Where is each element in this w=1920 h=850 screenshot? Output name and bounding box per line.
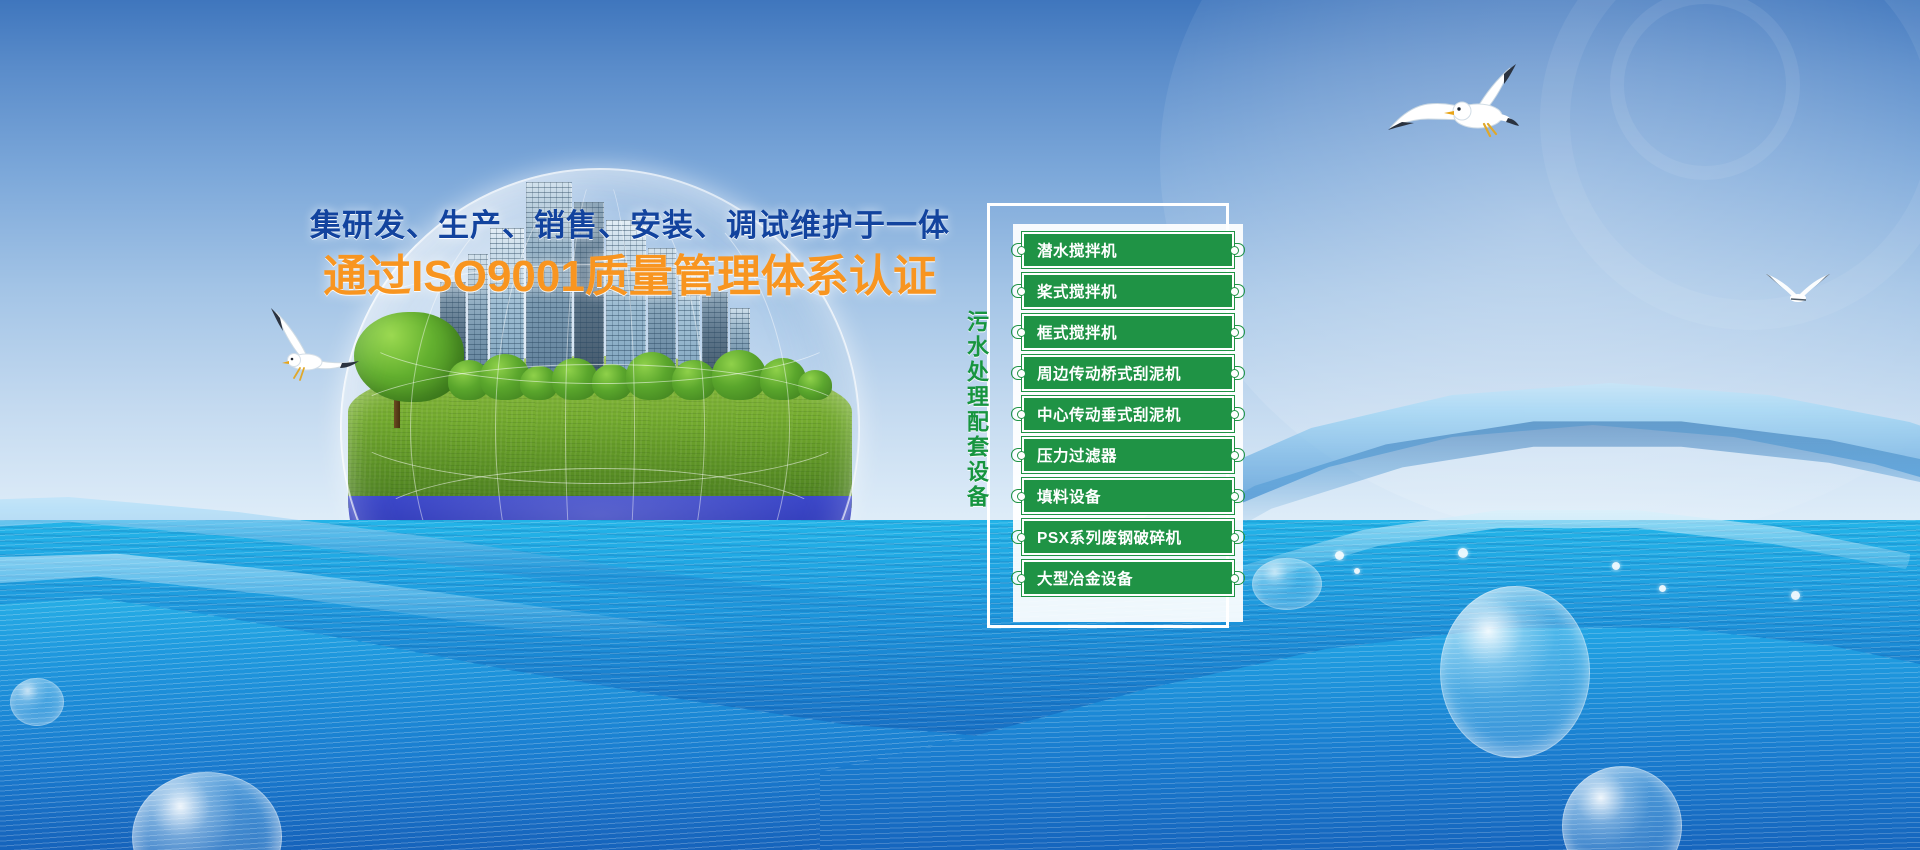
product-item-label: 周边传动桥式刮泥机 <box>1037 362 1181 384</box>
connector-knob-left-icon <box>1017 328 1026 337</box>
product-category-panel: 污水处理配套设备 潜水搅拌机 桨式搅拌机 框式搅拌机 <box>987 203 1229 628</box>
connector-knob-left-icon <box>1017 246 1026 255</box>
panel-vertical-label: 污水处理配套设备 <box>962 310 988 510</box>
product-list: 潜水搅拌机 桨式搅拌机 框式搅拌机 周边传动桥 <box>1013 224 1243 622</box>
tree <box>798 370 832 400</box>
tree <box>712 350 766 400</box>
product-item[interactable]: 桨式搅拌机 <box>1022 273 1234 309</box>
product-item[interactable]: 周边传动桥式刮泥机 <box>1022 355 1234 391</box>
headline-accent: 通过ISO9001质量管理体系认证 <box>310 251 950 304</box>
product-item-label: PSX系列废钢破碎机 <box>1037 526 1182 548</box>
product-item-label: 填料设备 <box>1037 485 1101 507</box>
connector-knob-left-icon <box>1017 287 1026 296</box>
product-item[interactable]: 潜水搅拌机 <box>1022 232 1234 268</box>
tree <box>672 360 716 400</box>
tree <box>626 352 678 400</box>
product-item[interactable]: 框式搅拌机 <box>1022 314 1234 350</box>
eco-water-treatment-banner: 集研发、生产、销售、安装、调试维护于一体 通过ISO9001质量管理体系认证 污… <box>0 0 1920 850</box>
product-item-label: 大型冶金设备 <box>1037 567 1133 589</box>
product-item-label: 潜水搅拌机 <box>1037 239 1117 261</box>
product-item[interactable]: 填料设备 <box>1022 478 1234 514</box>
connector-knob-left-icon <box>1017 451 1026 460</box>
product-item-label: 框式搅拌机 <box>1037 321 1117 343</box>
headline-primary: 集研发、生产、销售、安装、调试维护于一体 <box>310 205 950 247</box>
product-item[interactable]: 压力过滤器 <box>1022 437 1234 473</box>
connector-knob-left-icon <box>1017 369 1026 378</box>
product-item-label: 桨式搅拌机 <box>1037 280 1117 302</box>
product-item[interactable]: 大型冶金设备 <box>1022 560 1234 596</box>
product-item-label: 中心传动垂式刮泥机 <box>1037 403 1181 425</box>
tree <box>552 358 598 400</box>
connector-knob-left-icon <box>1017 492 1026 501</box>
product-item[interactable]: 中心传动垂式刮泥机 <box>1022 396 1234 432</box>
product-item-label: 压力过滤器 <box>1037 444 1117 466</box>
headline-block: 集研发、生产、销售、安装、调试维护于一体 通过ISO9001质量管理体系认证 <box>310 205 950 304</box>
connector-knob-left-icon <box>1017 533 1026 542</box>
connector-knob-left-icon <box>1017 410 1026 419</box>
product-item[interactable]: PSX系列废钢破碎机 <box>1022 519 1234 555</box>
tree-row <box>362 338 832 400</box>
connector-knob-left-icon <box>1017 574 1026 583</box>
